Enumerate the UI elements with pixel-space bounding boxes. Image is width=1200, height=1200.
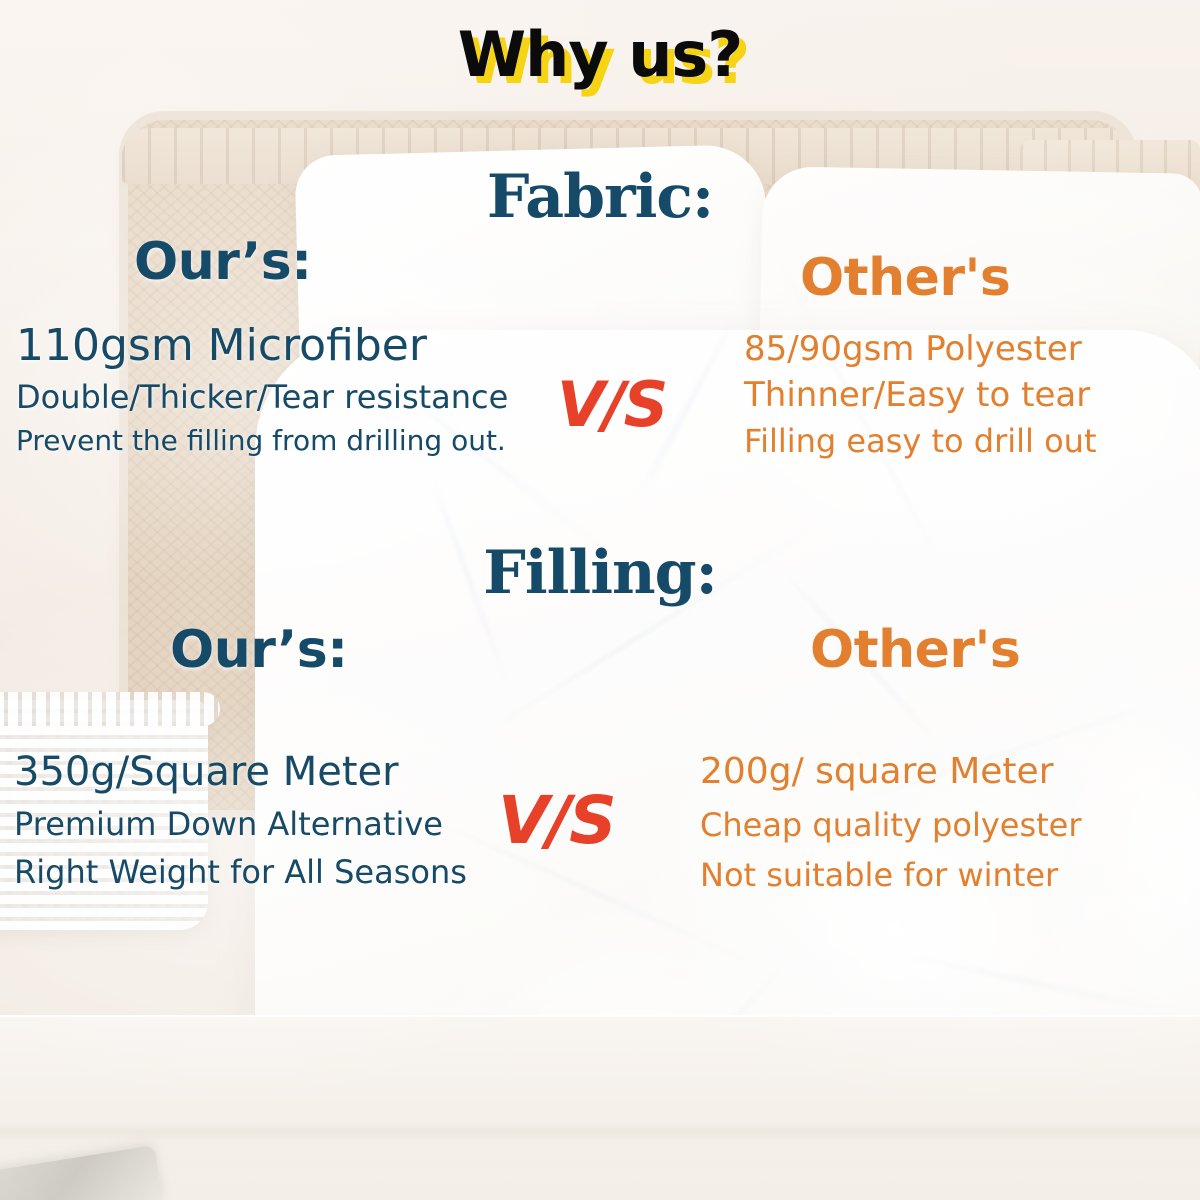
fabric-ours-heading: Our’s: — [134, 232, 312, 292]
fabric-ours-line-1: 110gsm Microfiber — [16, 318, 508, 374]
filling-ours-line-3: Right Weight for All Seasons — [14, 848, 467, 896]
fabric-ours-line-2: Double/Thicker/Tear resistance — [16, 374, 508, 420]
filling-ours-heading: Our’s: — [170, 620, 348, 680]
section-heading-fabric: Fabric: — [0, 162, 1200, 232]
filling-others-line-1: 200g/ square Meter — [700, 744, 1082, 800]
fabric-others-lines: 85/90gsm Polyester Thinner/Easy to tear … — [744, 326, 1097, 464]
fabric-others-line-1: 85/90gsm Polyester — [744, 326, 1097, 372]
filling-others-lines: 200g/ square Meter Cheap quality polyest… — [700, 744, 1082, 900]
filling-others-line-2: Cheap quality polyester — [700, 800, 1082, 850]
filling-ours-lines: 350g/Square Meter Premium Down Alternati… — [14, 744, 467, 896]
fabric-vs-badge: V/S — [557, 368, 666, 441]
comparison-infographic: Why us? Fabric: Our’s: 110gsm Microfiber… — [0, 0, 1200, 1200]
fabric-ours-line-3: Prevent the filling from drilling out. — [16, 420, 508, 462]
filling-others-heading: Other's — [810, 620, 1020, 680]
filling-ours-line-1: 350g/Square Meter — [14, 744, 467, 800]
fabric-others-line-2: Thinner/Easy to tear — [744, 372, 1097, 418]
poster-title: Why us? — [458, 18, 743, 91]
filling-others-line-3: Not suitable for winter — [700, 850, 1082, 900]
section-heading-filling: Filling: — [0, 538, 1200, 608]
filling-vs-badge: V/S — [498, 782, 615, 859]
fabric-others-heading: Other's — [800, 248, 1010, 308]
fabric-others-line-3: Filling easy to drill out — [744, 418, 1097, 464]
filling-ours-line-2: Premium Down Alternative — [14, 800, 467, 848]
infographic-content: Why us? Fabric: Our’s: 110gsm Microfiber… — [0, 0, 1200, 1200]
fabric-ours-lines: 110gsm Microfiber Double/Thicker/Tear re… — [16, 318, 508, 462]
poster-title-area: Why us? — [0, 18, 1200, 91]
